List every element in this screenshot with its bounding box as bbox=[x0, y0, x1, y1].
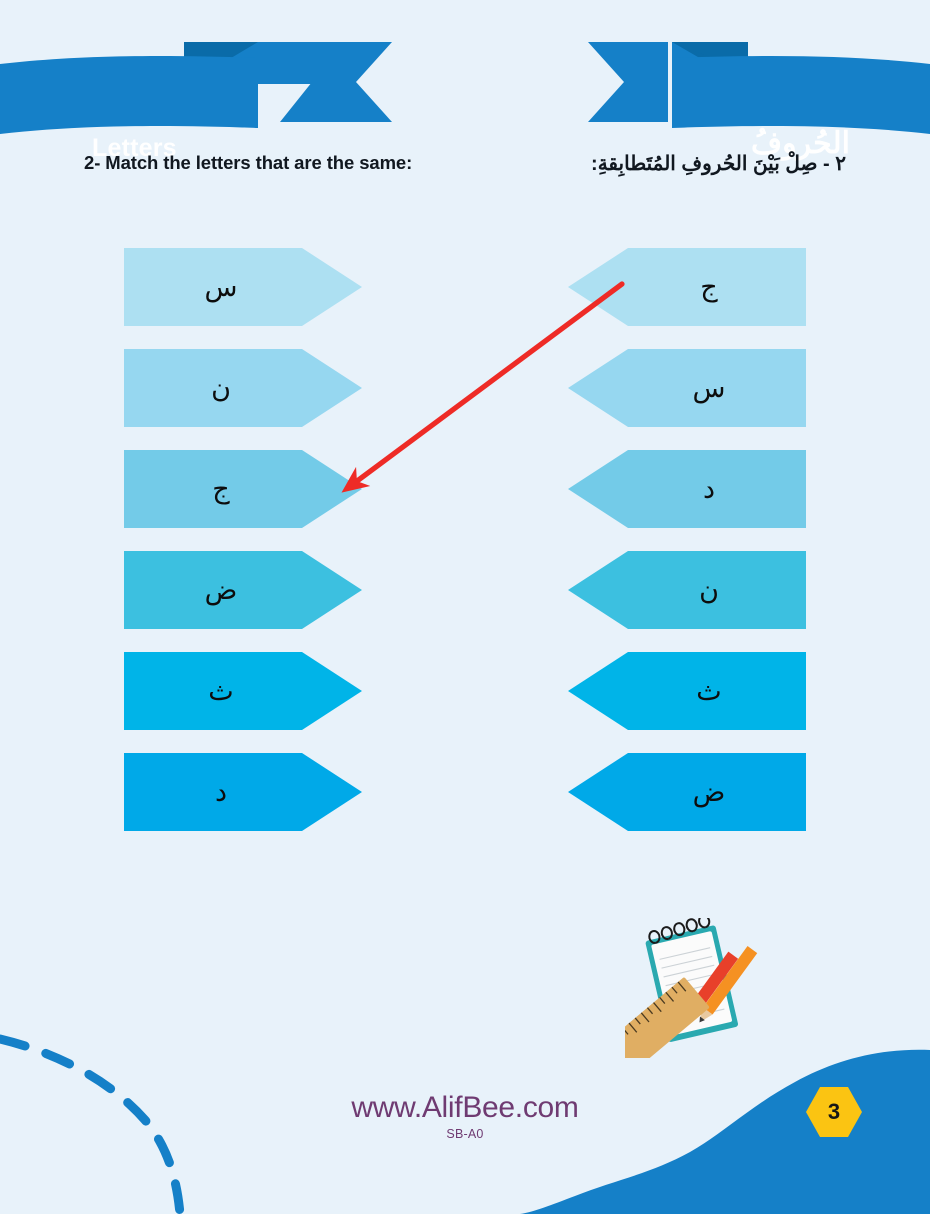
page-number-badge: 3 bbox=[804, 1085, 864, 1139]
brand-url: www.AlifBee.com bbox=[0, 1092, 930, 1124]
chevron-right-shape bbox=[124, 753, 362, 831]
left-banner-tail-flag bbox=[314, 42, 392, 122]
left-letter-card-2[interactable]: ن bbox=[124, 349, 362, 427]
left-letter-card-1[interactable]: س bbox=[124, 248, 362, 326]
chevron-left-shape bbox=[568, 248, 806, 326]
right-letter-card-5[interactable]: ث bbox=[568, 652, 806, 730]
right-letter-card-1[interactable]: ج bbox=[568, 248, 806, 326]
header-banners: Letters الحُروفُ bbox=[0, 38, 930, 148]
instruction-row: 2- Match the letters that are the same: … bbox=[0, 152, 930, 186]
instruction-arabic: ٢ - صِلْ بَيْنَ الحُروفِ المُتَطابِقةِ: bbox=[591, 151, 846, 176]
chevron-left-shape bbox=[568, 753, 806, 831]
right-letter-card-2[interactable]: س bbox=[568, 349, 806, 427]
right-banner-band bbox=[672, 56, 930, 134]
left-letter-card-6[interactable]: د bbox=[124, 753, 362, 831]
wave-decoration bbox=[520, 1050, 930, 1214]
chevron-right-shape bbox=[124, 349, 362, 427]
right-banner-tail-flag bbox=[588, 42, 668, 122]
left-letter-card-4[interactable]: ض bbox=[124, 551, 362, 629]
stationery-illustration bbox=[625, 918, 775, 1058]
chevron-right-shape bbox=[124, 551, 362, 629]
worksheet-page: Letters الحُروفُ 2- Match the letters th… bbox=[0, 0, 930, 1214]
left-banner-band bbox=[0, 56, 258, 134]
left-letter-card-5[interactable]: ث bbox=[124, 652, 362, 730]
chevron-left-shape bbox=[568, 450, 806, 528]
right-letter-card-4[interactable]: ن bbox=[568, 551, 806, 629]
footer-branding: www.AlifBee.com SB-A0 bbox=[0, 1092, 930, 1141]
brand-code: SB-A0 bbox=[0, 1127, 930, 1141]
chevron-left-shape bbox=[568, 349, 806, 427]
right-banner bbox=[588, 42, 930, 134]
right-letter-card-6[interactable]: ض bbox=[568, 753, 806, 831]
chevron-right-shape bbox=[124, 450, 362, 528]
left-banner bbox=[0, 42, 392, 134]
instruction-english: 2- Match the letters that are the same: bbox=[84, 152, 412, 174]
chevron-left-shape bbox=[568, 551, 806, 629]
page-number: 3 bbox=[828, 1101, 840, 1123]
dashed-curve-decoration bbox=[0, 1039, 180, 1214]
chevron-right-shape bbox=[124, 652, 362, 730]
chevron-right-shape bbox=[124, 248, 362, 326]
matching-exercise: س ن ج ض ث bbox=[0, 248, 930, 838]
right-letter-card-3[interactable]: د bbox=[568, 450, 806, 528]
chevron-left-shape bbox=[568, 652, 806, 730]
left-letter-card-3[interactable]: ج bbox=[124, 450, 362, 528]
